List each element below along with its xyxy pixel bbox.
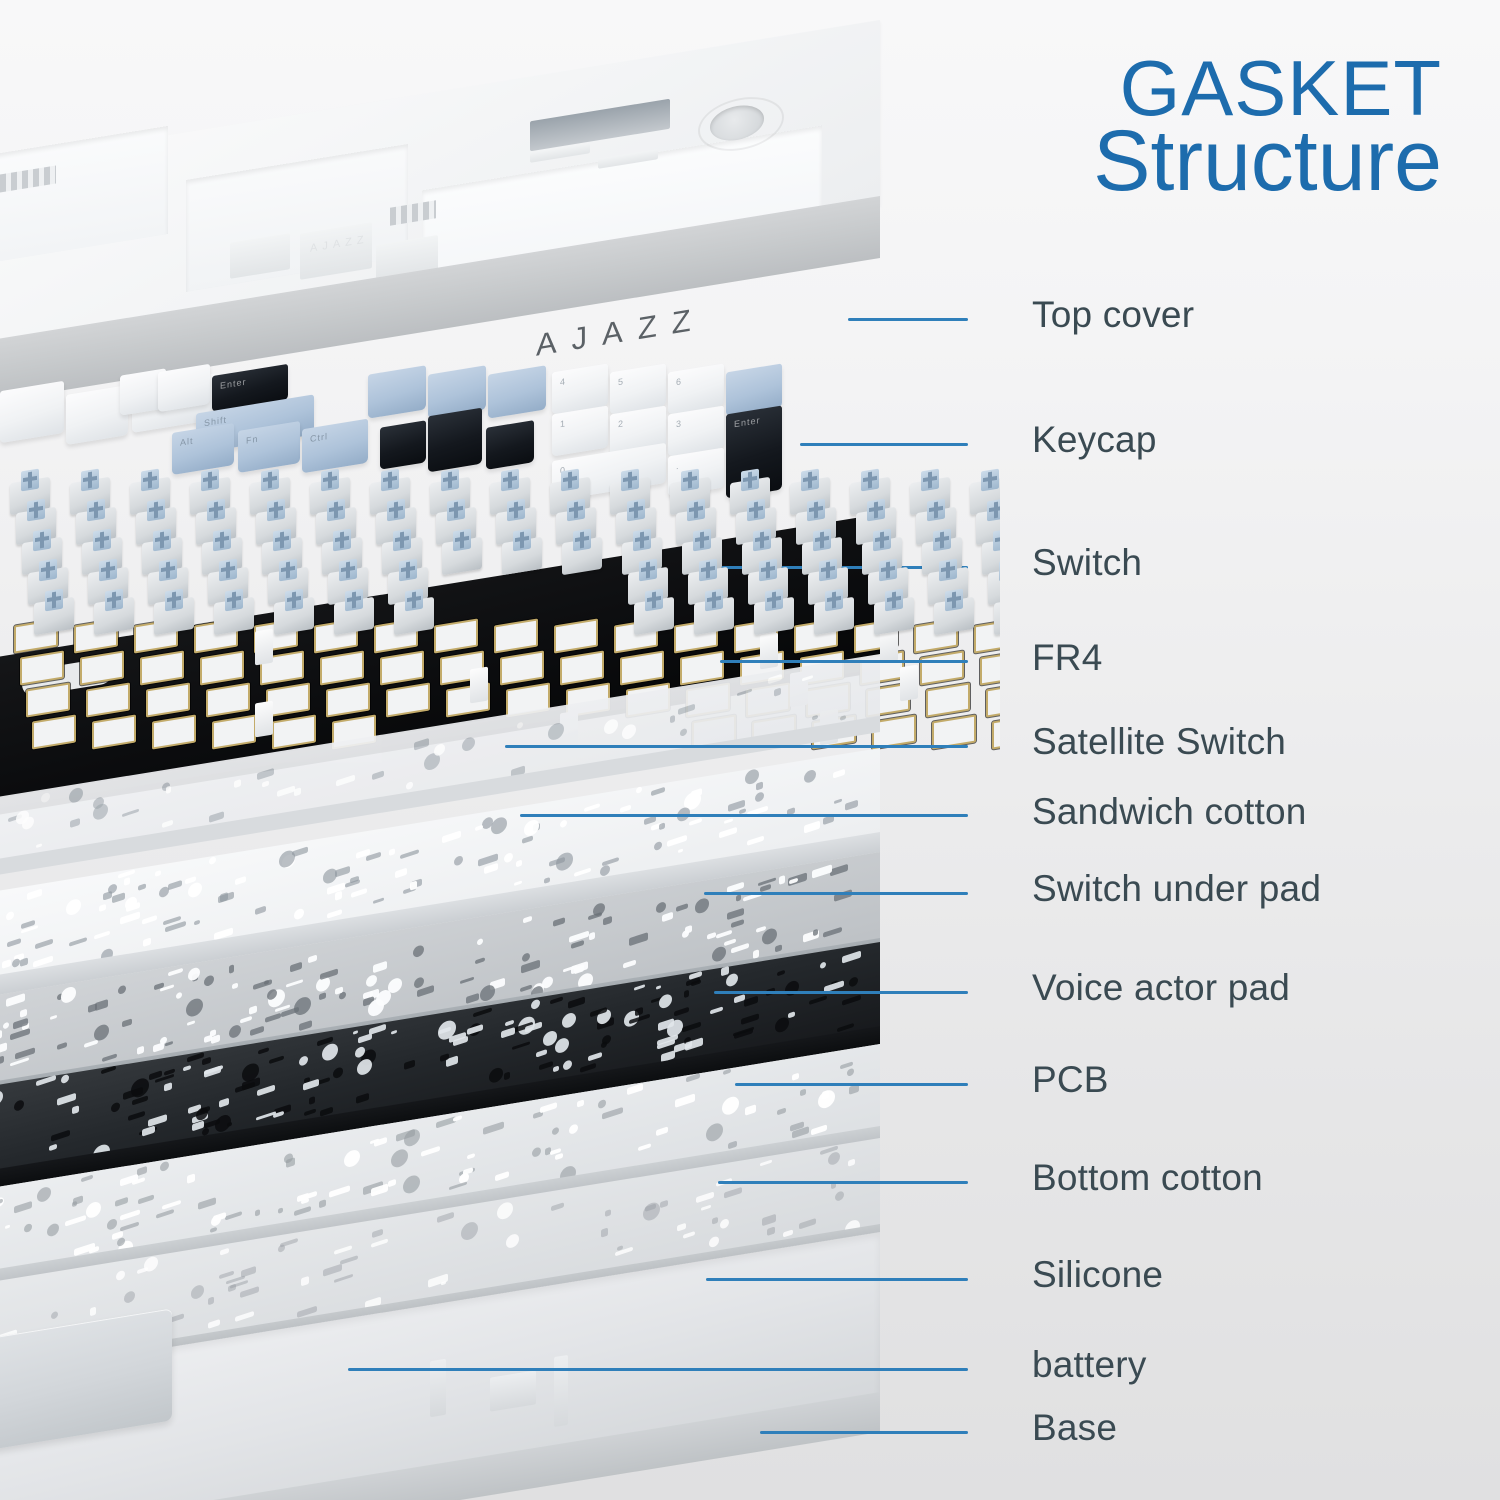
switch [274,587,314,635]
pad-perforation [10,1028,30,1040]
pad-perforation [421,1146,440,1157]
pad-perforation [99,904,106,913]
pad-perforation [122,808,139,817]
switch-stem [993,529,1000,552]
pad-perforation [209,811,224,823]
switch-stem [687,499,705,522]
switch-stem [933,529,951,552]
pad-perforation [88,1003,97,1012]
pad-perforation [556,851,573,873]
pad-perforation [335,891,342,901]
pad-perforation [301,1276,309,1286]
pad-perforation [677,1222,686,1231]
layer-top-cover: AJAZZ AJAZZ [0,118,880,368]
switch [634,587,674,635]
pad-perforation [128,1111,145,1121]
pad-perforation [553,917,565,927]
pad-perforation [724,818,733,824]
switch-stem [999,559,1000,582]
pad-perforation [620,805,631,814]
pad-perforation [143,937,151,947]
leader-line-keycap [800,443,968,446]
switch-stem [447,499,465,522]
pad-perforation [299,1055,308,1067]
pad-perforation [86,1200,101,1220]
callout-label-keycap: Keycap [1032,419,1157,461]
switch-stem [813,529,831,552]
pad-perforation [788,1011,795,1019]
switch [394,587,434,635]
pad-perforation [187,1021,195,1027]
pad-perforation [258,1047,269,1054]
pad-perforation [329,1185,350,1197]
pad-perforation [336,774,355,786]
pad-perforation [72,1105,79,1114]
pad-perforation [560,819,567,828]
pad-perforation [220,892,228,902]
switch-stem [399,559,417,582]
switch [94,587,134,635]
pad-perforation [65,1215,86,1227]
keycap [0,381,64,443]
pad-perforation [804,821,820,834]
pad-perforation [833,768,845,778]
pad-perforation [785,979,799,998]
pad-perforation [847,1067,854,1076]
switch-stem [987,499,1000,522]
pad-perforation [234,779,241,788]
pad-perforation [168,880,182,890]
pad-perforation [20,1009,27,1018]
switch-stem [945,589,963,612]
fr4-switch-cutout [980,650,1000,685]
pad-perforation [767,1226,775,1236]
pad-perforation [536,1049,547,1058]
pad-perforation [35,938,53,949]
pad-perforation [428,1273,448,1287]
keycap-legend: 5 [618,376,624,387]
pad-perforation [462,735,475,753]
pad-perforation [818,1088,835,1111]
pad-perforation [775,1016,789,1034]
pad-perforation [651,787,665,797]
pad-perforation [779,874,785,884]
layer-base [0,1330,880,1500]
pad-perforation [334,1245,352,1255]
switch-stem [267,499,285,522]
pad-perforation [762,1213,776,1225]
pad-perforation [61,985,76,1004]
switch-stem [99,559,117,582]
switch-stem [939,559,957,582]
pad-perforation [747,835,764,845]
pad-perforation [290,962,302,973]
keycap-legend: 1 [560,418,566,429]
pad-perforation [356,1093,369,1104]
leader-line-voice-actor-pad [714,991,968,994]
exploded-diagram-stage: AJAZZ AJAZZ EnterShiftAltFnCtrl4561230.E… [0,0,1500,1500]
switch-stem [885,589,903,612]
pad-perforation [142,1125,155,1137]
pad-perforation [66,897,81,917]
switch-stem [921,469,939,492]
keycap [486,420,534,470]
pad-perforation [774,687,781,696]
pad-perforation [388,977,402,995]
pad-perforation [334,1274,353,1283]
pad-perforation [723,1068,731,1074]
switch-stem [681,469,699,492]
pad-perforation [588,1052,602,1062]
pad-perforation [830,863,848,876]
pad-perforation [27,889,42,901]
leader-line-battery [348,1368,968,1371]
pad-perforation [70,817,80,827]
pad-perforation [656,985,661,990]
switch-stem [339,559,357,582]
pad-perforation [111,1101,120,1113]
pad-perforation [709,1235,719,1248]
leader-line-silicone [706,1278,968,1281]
pad-perforation [304,1108,316,1116]
pad-perforation [294,788,301,797]
pad-perforation [255,1209,260,1217]
pad-perforation [323,1263,342,1276]
pad-perforation [255,906,266,916]
switch-stem [645,589,663,612]
switch [502,527,542,575]
pad-perforation [716,930,732,939]
switch [334,587,374,635]
pad-perforation [210,1227,217,1233]
switch-stem [759,559,777,582]
pad-perforation [50,1014,57,1019]
page-title: GASKET Structure [1093,52,1442,202]
pad-perforation [731,919,744,928]
pad-perforation [257,768,274,781]
callout-label-top-cover: Top cover [1032,294,1194,336]
pad-perforation [389,848,395,856]
leader-line-sandwich-cotton [520,814,968,817]
switch-stem [981,469,999,492]
pad-perforation [6,993,25,1007]
pad-perforation [512,1042,530,1051]
callout-label-satellite-switch: Satellite Switch [1032,721,1286,763]
switch-stem [213,529,231,552]
pad-perforation [580,1063,596,1073]
pad-perforation [164,1082,172,1092]
pad-perforation [686,1073,700,1082]
callout-label-sandwich-cotton: Sandwich cotton [1032,791,1307,833]
switch [814,587,854,635]
pad-perforation [684,990,689,998]
switch-stem [393,529,411,552]
keyboard-exploded-artwork: AJAZZ AJAZZ EnterShiftAltFnCtrl4561230.E… [0,0,1000,1500]
switch-stem [639,559,657,582]
pad-perforation [696,1191,714,1202]
pad-perforation [265,1013,281,1023]
pad-perforation [605,1209,611,1217]
keycap-legend: 6 [676,376,682,387]
pad-perforation [308,955,317,964]
pad-perforation [497,1200,513,1222]
switch-stem [21,469,39,492]
pad-perforation [721,966,729,976]
pad-perforation [670,715,675,724]
switch-stem [513,529,531,552]
keycap-legend: Enter [734,415,761,429]
fr4-switch-cutout [920,650,964,685]
pad-perforation [14,1098,24,1112]
switch [214,587,254,635]
switch [154,587,194,635]
switch-stem [105,589,123,612]
pad-perforation [722,1094,739,1116]
leader-line-satellite-switch [505,745,968,748]
pad-perforation [552,1126,559,1136]
switch-stem [327,499,345,522]
pad-perforation [660,1199,668,1208]
pad-perforation [674,1007,689,1017]
satellite-switch-stabilizer [255,629,273,666]
pad-perforation [391,1030,397,1035]
pad-perforation [333,1066,343,1079]
pad-perforation [842,951,861,964]
switch-stem [321,469,339,492]
pad-perforation [720,1217,729,1230]
pad-perforation [712,945,726,964]
switch-stem [825,589,843,612]
pad-perforation [736,894,741,901]
satellite-switch-stabilizer [470,667,488,704]
pad-perforation [584,803,600,812]
switch-stem [873,529,891,552]
pad-perforation [840,715,846,721]
satellite-switch-stabilizer [900,665,918,702]
switch-stem [453,529,471,552]
keycap: Fn [238,421,300,473]
pad-perforation [707,932,716,939]
switch-stem [501,469,519,492]
pad-perforation [51,1130,70,1142]
pad-perforation [406,782,413,791]
pad-perforation [601,1041,607,1049]
pad-perforation [194,920,200,926]
pad-perforation [294,907,304,920]
title-line-2: Structure [1093,121,1442,202]
pad-perforation [777,970,785,976]
pad-perforation [208,1319,220,1329]
pad-perforation [809,995,827,1005]
pad-perforation [442,830,461,843]
pad-perforation [3,1021,9,1029]
pad-perforation [461,1219,478,1242]
pad-perforation [369,1023,386,1034]
pad-perforation [574,867,591,877]
pad-perforation [741,1013,759,1025]
pad-perforation [434,743,445,757]
pad-perforation [294,1206,311,1216]
keycap-legend: 2 [618,418,624,429]
pad-perforation [555,1152,563,1160]
leader-line-top-cover [848,318,968,321]
switch-stem [867,499,885,522]
switch [934,587,974,635]
switch-stem [741,469,759,492]
pad-perforation [489,1066,503,1085]
pad-perforation [294,995,311,1018]
pad-perforation [800,1089,806,1096]
leader-line-fr4 [720,660,968,663]
pad-perforation [532,1146,541,1158]
switch-stem [801,469,819,492]
pad-perforation [849,975,858,987]
pad-perforation [372,770,384,780]
pad-perforation [682,1021,701,1032]
keycap [368,365,426,418]
pad-perforation [14,1201,32,1214]
switch-stem [747,499,765,522]
pad-perforation [804,768,816,784]
switch-stem [405,589,423,612]
pad-perforation [122,1018,132,1027]
pad-perforation [745,1105,756,1116]
switch-stem [33,529,51,552]
pad-perforation [41,792,50,804]
pad-perforation [188,880,202,899]
pad-perforation [209,856,216,865]
pad-perforation [678,849,683,854]
pad-perforation [727,907,744,920]
pad-perforation [662,912,673,922]
pad-perforation [269,1055,284,1064]
pad-perforation [253,979,272,990]
switch-stem [633,529,651,552]
pad-perforation [441,1281,446,1286]
pad-perforation [118,985,126,995]
pad-perforation [6,910,14,920]
pad-perforation [540,1102,557,1114]
switch-stem [159,559,177,582]
pad-perforation [7,938,21,948]
ajazz-logo: AJAZZ [536,300,706,363]
pad-perforation [636,786,642,794]
switch-stem [279,559,297,582]
switch-stem [861,469,879,492]
pad-perforation [676,903,688,911]
pad-perforation [812,864,832,878]
pad-perforation [712,1217,718,1225]
pad-perforation [279,849,295,870]
pad-perforation [506,1233,519,1250]
pad-perforation [627,1083,643,1096]
switch-stem [807,499,825,522]
pad-perforation [501,1027,515,1038]
pad-perforation [823,926,842,938]
pad-perforation [683,1231,695,1239]
pad-perforation [257,1084,275,1095]
base-post-3 [554,1355,568,1427]
pad-perforation [783,1229,793,1237]
switch-stem [561,469,579,492]
pad-perforation [542,975,553,990]
pad-perforation [475,957,485,964]
switch-stem [45,589,63,612]
pad-perforation [483,1121,504,1134]
pad-perforation [622,722,636,741]
callout-label-switch: Switch [1032,542,1142,584]
keycap: Ctrl [302,419,368,474]
switch-stem [147,499,165,522]
pad-perforation [160,1160,169,1172]
pad-perforation [523,916,532,924]
pad-perforation [166,786,171,795]
pad-perforation [737,689,752,697]
switch-stem [441,469,459,492]
pad-perforation [278,1244,285,1253]
pad-perforation [229,1023,241,1039]
switch-stem [387,499,405,522]
switch [754,587,794,635]
pad-perforation [358,1033,372,1043]
keycap [428,408,482,473]
pad-perforation [654,841,662,851]
leader-line-base [760,1431,968,1434]
switch [994,587,1000,635]
switch-stem [879,559,897,582]
switch-stem [39,559,57,582]
pad-perforation [848,1159,855,1168]
switch-stem [381,469,399,492]
pad-perforation [812,715,818,720]
pad-perforation [835,1190,844,1202]
pad-perforation [792,1073,799,1081]
pad-perforation [327,908,342,918]
callout-label-fr4: FR4 [1032,637,1103,679]
pad-perforation [115,1197,128,1207]
switch-stem [705,589,723,612]
pad-perforation [756,781,763,790]
pad-perforation [319,992,326,1000]
switch-stem [87,499,105,522]
pad-perforation [94,930,110,940]
pad-perforation [601,1228,608,1238]
pad-perforation [568,996,585,1008]
switch-stem [261,469,279,492]
pad-perforation [577,1099,584,1108]
pad-perforation [410,880,417,890]
pad-perforation [667,835,687,847]
pad-perforation [589,932,595,941]
pad-perforation [286,979,303,988]
pad-perforation [309,1096,315,1105]
pad-perforation [225,1211,242,1220]
switch-housing [994,597,1000,635]
switch-stem [927,499,945,522]
callout-label-pcb: PCB [1032,1059,1109,1101]
switch-stem [507,499,525,522]
pad-perforation [548,721,564,742]
fr4-switch-cutout [926,682,970,717]
pad-perforation [61,1073,69,1084]
pad-perforation [569,1124,578,1136]
pad-perforation [726,972,738,988]
switch-stem [819,559,837,582]
leader-line-pcb [735,1083,968,1086]
pad-perforation [116,1270,125,1282]
pad-perforation [198,1197,216,1210]
pad-perforation [202,1057,211,1065]
